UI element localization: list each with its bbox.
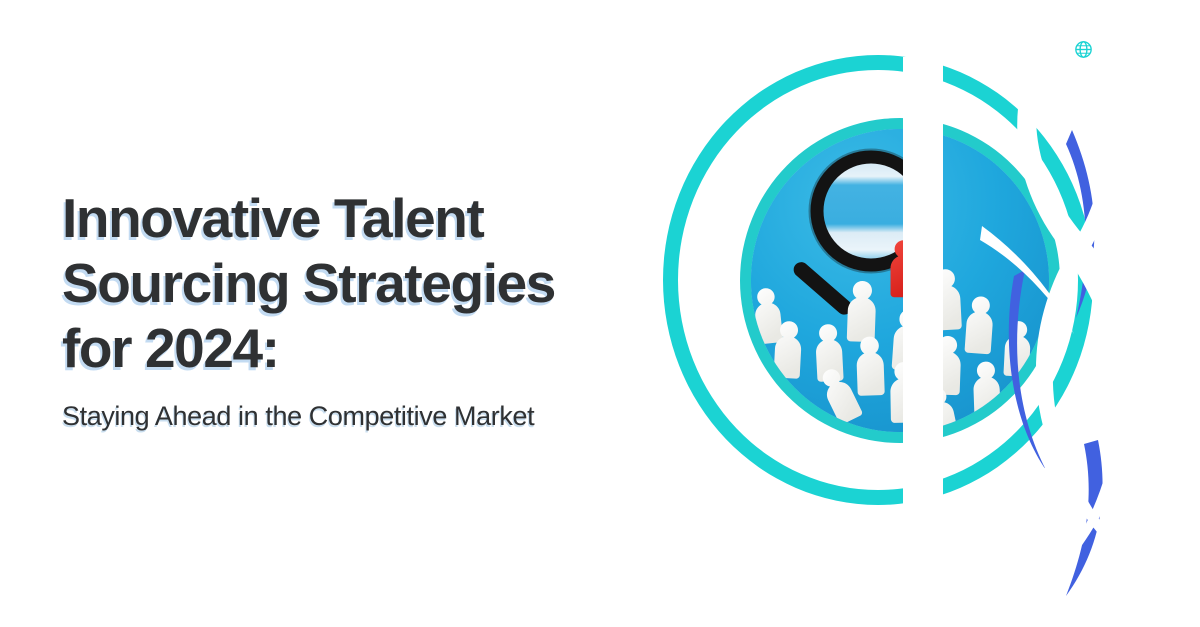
hero-artwork: [655, 38, 1200, 538]
logo-text-part-one: J: [1058, 33, 1074, 66]
page-subtitle: Staying Ahead in the Competitive Market: [62, 401, 682, 432]
globe-icon: [1075, 33, 1092, 50]
page-title: Innovative Talent Sourcing Strategies fo…: [62, 186, 682, 381]
logo-text-part-two: bsP: [1093, 33, 1144, 66]
headline-block: Innovative Talent Sourcing Strategies fo…: [62, 186, 682, 432]
jobspikr-logo[interactable]: J bsP ikr: [1058, 32, 1178, 66]
stock-photo-circle: [751, 129, 1049, 432]
ring-mask-right: [903, 57, 943, 505]
logo-text-part-three: ikr: [1144, 33, 1178, 66]
blog-banner: J bsP ikr Innovative Talent Sourcing Str…: [0, 0, 1200, 627]
logo-wordmark: J bsP ikr: [1058, 33, 1178, 66]
